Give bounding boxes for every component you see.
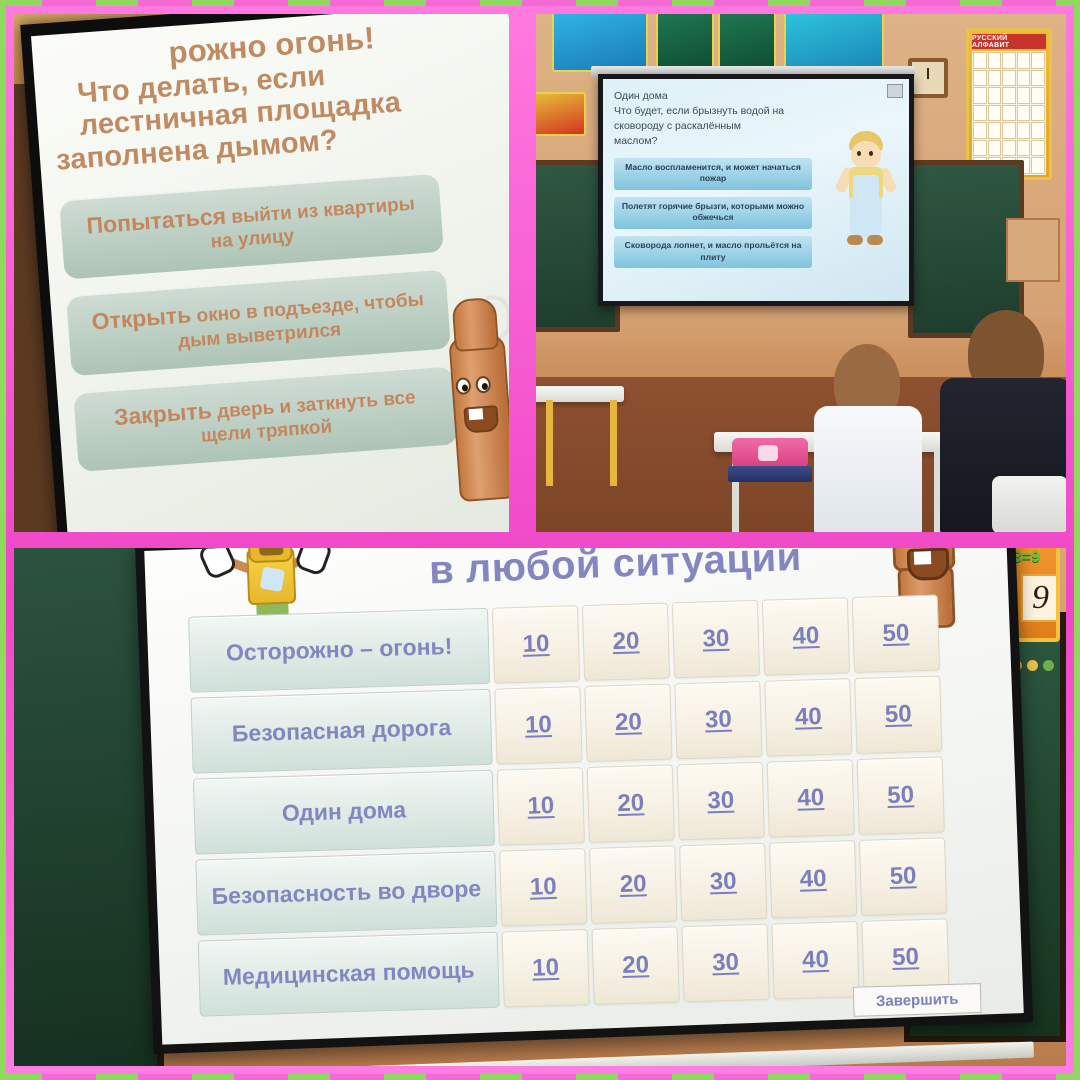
projector-screen-frame: сть в любой ситуации Осторожно – огонь! … [135, 548, 1033, 1054]
quiz-cell[interactable]: 20 [587, 764, 675, 843]
quiz-cell[interactable]: 40 [769, 840, 857, 919]
quiz-cell-value: 20 [622, 951, 650, 980]
quiz-cell-value: 40 [799, 865, 827, 894]
pink-pencil-case [732, 438, 808, 468]
quiz-cell[interactable]: 20 [589, 845, 677, 924]
measures-poster-icon [656, 14, 714, 72]
answer-lead: Закрыть [113, 397, 212, 430]
boy-shrugging-icon [837, 131, 895, 251]
answer-option[interactable]: Полетят горячие брызги, которыми можно о… [614, 197, 812, 229]
projected-slide: Один дома Что будет, если брызнуть водой… [603, 79, 909, 301]
quiz-cell[interactable]: 30 [672, 600, 760, 679]
finish-button[interactable]: Завершить [853, 983, 982, 1017]
quiz-cell-value: 50 [892, 943, 920, 972]
wall-panel [1006, 218, 1060, 282]
quiz-cell-value: 10 [527, 792, 555, 821]
quiz-cell[interactable]: 30 [681, 924, 769, 1003]
desk-leg [546, 400, 553, 486]
slide-question-line1: Что будет, если брызнуть водой на [614, 104, 898, 119]
russian-alphabet-poster: РУССКИЙ АЛФАВИТ [966, 28, 1052, 180]
slide-answer-list: Попытаться выйти из квартиры на улицу От… [59, 173, 458, 472]
wall-clock-icon [908, 58, 948, 98]
magnet-dot-icon [1027, 660, 1038, 671]
quiz-cell[interactable]: 40 [762, 597, 850, 676]
quiz-category[interactable]: Медицинская помощь [198, 932, 500, 1017]
slide-corner-badge-icon [887, 84, 903, 98]
quiz-cell-value: 30 [705, 706, 733, 735]
quiz-cell-value: 40 [795, 703, 823, 732]
slide-heading: Один дома [614, 89, 898, 104]
quiz-cell-value: 50 [887, 781, 915, 810]
notebook-stack [728, 466, 812, 482]
quiz-grid: Осторожно – огонь! 10 20 30 40 50 Безопа… [188, 594, 960, 1016]
number-card: 9 [1021, 574, 1060, 622]
magnet-dot-icon [1043, 660, 1054, 671]
slide-answer-list: Масло воспламенится, и может начаться по… [614, 158, 812, 269]
quiz-cell[interactable]: 40 [767, 759, 855, 838]
quiz-category[interactable]: Безопасная дорога [190, 689, 492, 774]
alphabet-grid [972, 51, 1046, 175]
panel-fire-slide: рожно огонь! Что делать, если лестничная… [14, 14, 509, 532]
board-title: в любой ситуации [428, 548, 802, 594]
quiz-cell-value: 30 [709, 868, 737, 897]
quiz-cell-value: 10 [525, 711, 553, 740]
quiz-cell-value: 20 [617, 789, 645, 818]
projected-slide: рожно огонь! Что делать, если лестничная… [31, 14, 509, 532]
answer-option[interactable]: Открыть окно в подъезде, чтобы дым вывет… [66, 269, 451, 376]
quiz-cell[interactable]: 30 [679, 843, 767, 922]
quiz-cell[interactable]: 30 [674, 681, 762, 760]
quiz-cell[interactable]: 40 [771, 921, 859, 1000]
quiz-cell-value: 30 [707, 787, 735, 816]
quiz-cell-value: 40 [797, 784, 825, 813]
quiz-category[interactable]: Один дома [193, 770, 495, 855]
quiz-cell[interactable]: 10 [499, 848, 587, 927]
answer-option[interactable]: Масло воспламенится, и может начаться по… [614, 158, 812, 190]
extinguisher-mouth-icon [463, 405, 499, 433]
quiz-board-slide: сть в любой ситуации Осторожно – огонь! … [144, 548, 1024, 1045]
quiz-category[interactable]: Безопасность во дворе [195, 851, 497, 936]
extinguisher-head-icon [451, 297, 499, 352]
panel-quiz-board: 3х3=9 6 7 8 9 [14, 548, 1066, 1066]
quiz-cell[interactable]: 30 [677, 762, 765, 841]
side-poster-icon [536, 92, 586, 136]
quiz-cell-value: 30 [712, 949, 740, 978]
slide-title: рожно огонь! Что делать, если лестничная… [48, 14, 502, 177]
projector-screen-frame: Один дома Что будет, если брызнуть водой… [598, 74, 914, 306]
quiz-cell[interactable]: 50 [857, 756, 945, 835]
quiz-cell[interactable]: 20 [582, 603, 670, 682]
photo-collage: рожно огонь! Что делать, если лестничная… [0, 0, 1080, 1080]
projector-screen-frame: рожно огонь! Что делать, если лестничная… [20, 14, 509, 532]
math-poster-2-icon [784, 14, 884, 72]
quiz-cell-value: 50 [882, 619, 910, 648]
measures-poster-2-icon [718, 14, 776, 72]
answer-option[interactable]: Сковорода лопнет, и масло прольётся на п… [614, 236, 812, 268]
quiz-cell[interactable]: 50 [859, 837, 947, 916]
quiz-cell-value: 50 [889, 862, 917, 891]
quiz-cell-value: 40 [792, 622, 820, 651]
quiz-cell[interactable]: 20 [584, 683, 672, 762]
quiz-cell[interactable]: 10 [494, 686, 582, 765]
quiz-cell[interactable]: 50 [854, 675, 942, 754]
panel-classroom-photo: РУССКИЙ АЛФАВИТ Один дома Что будет, есл… [536, 14, 1066, 532]
quiz-cell-value: 20 [612, 627, 640, 656]
quiz-cell-value: 10 [522, 630, 550, 659]
quiz-category[interactable]: Осторожно – огонь! [188, 608, 490, 693]
quiz-cell-value: 20 [619, 870, 647, 899]
answer-option[interactable]: Закрыть дверь и заткнуть все щели тряпко… [73, 365, 458, 472]
quiz-cell[interactable]: 40 [764, 678, 852, 757]
fire-extinguisher-character-icon [437, 288, 509, 503]
quiz-cell[interactable]: 10 [502, 929, 590, 1008]
quiz-cell-value: 40 [802, 946, 830, 975]
quiz-cell[interactable]: 10 [497, 767, 585, 846]
chair-back [992, 476, 1066, 532]
math-poster-1-icon [552, 14, 648, 72]
quiz-cell-value: 10 [529, 873, 557, 902]
quiz-cell[interactable]: 10 [492, 605, 580, 684]
quiz-cell[interactable]: 50 [852, 594, 940, 673]
answer-option[interactable]: Попытаться выйти из квартиры на улицу [59, 173, 444, 280]
quiz-cell-value: 10 [532, 954, 560, 983]
quiz-cell-value: 20 [615, 708, 643, 737]
desk-leg [610, 400, 617, 486]
quiz-cell-value: 30 [702, 625, 730, 654]
alphabet-poster-title: РУССКИЙ АЛФАВИТ [972, 34, 1046, 49]
quiz-cell-value: 50 [885, 700, 913, 729]
quiz-cell[interactable]: 20 [592, 926, 680, 1005]
